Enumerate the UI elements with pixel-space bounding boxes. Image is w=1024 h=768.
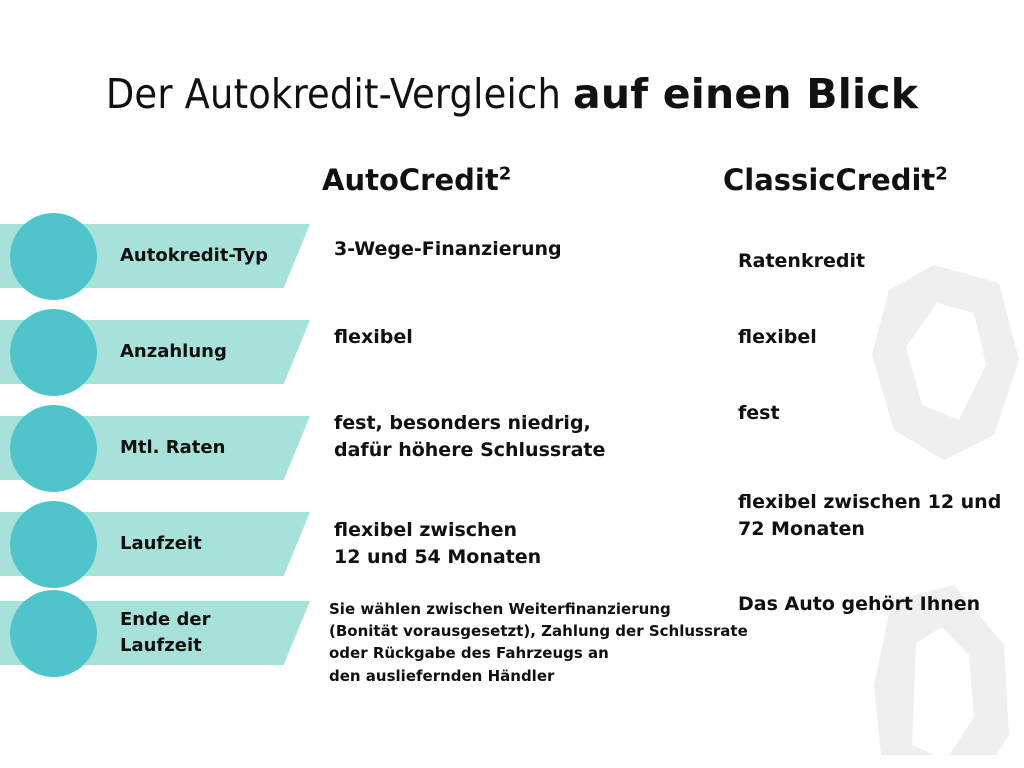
cell-classic-anzahlung: flexibel <box>738 324 817 351</box>
row-label-line1: Autokredit-Typ <box>120 243 300 269</box>
row-bullet-icon <box>10 501 97 588</box>
cell-auto-autokredit-typ: 3-Wege-Finanzierung <box>334 236 562 263</box>
cell-auto-anzahlung: flexibel <box>334 324 413 351</box>
column-header-classiccredit-superscript: 2 <box>935 163 948 184</box>
cell-auto-ende-der-laufzeit: Sie wählen zwischen Weiterfinanzierung (… <box>329 598 748 687</box>
row-bullet-icon <box>10 309 97 396</box>
cell-auto-mtl-raten: fest, besonders niedrig, dafür höhere Sc… <box>334 410 605 464</box>
cell-auto-laufzeit: flexibel zwischen 12 und 54 Monaten <box>334 517 541 571</box>
cell-classic-ende-der-laufzeit: Das Auto gehört Ihnen <box>738 591 980 618</box>
row-label-line1: Anzahlung <box>120 339 300 365</box>
column-header-autocredit-name: AutoCredit <box>322 163 499 197</box>
cell-classic-autokredit-typ: Ratenkredit <box>738 248 865 275</box>
column-header-classiccredit: ClassicCredit2 <box>723 163 948 197</box>
row-label-ende-der-laufzeit: Ende der Laufzeit <box>120 601 300 665</box>
row-label-mtl-raten: Mtl. Raten <box>120 416 300 480</box>
row-label-autokredit-typ: Autokredit-Typ <box>120 224 300 288</box>
row-label-laufzeit: Laufzeit <box>120 512 300 576</box>
page-title: Der Autokredit-Vergleich auf einen Blick <box>0 72 1024 117</box>
row-label-line1: Ende der <box>120 607 300 633</box>
column-header-classiccredit-name: ClassicCredit <box>723 163 935 197</box>
row-bullet-icon <box>10 590 97 677</box>
column-header-autocredit: AutoCredit2 <box>322 163 511 197</box>
row-label-line2: Laufzeit <box>120 633 300 659</box>
row-bullet-icon <box>10 405 97 492</box>
cell-classic-laufzeit: flexibel zwischen 12 und 72 Monaten <box>738 489 1001 543</box>
page-title-bold: auf einen Blick <box>573 70 918 118</box>
row-label-line1: Mtl. Raten <box>120 435 300 461</box>
row-bullet-icon <box>10 213 97 300</box>
page-title-regular: Der Autokredit-Vergleich <box>106 70 573 118</box>
column-header-autocredit-superscript: 2 <box>499 163 512 184</box>
row-label-line1: Laufzeit <box>120 531 300 557</box>
cell-classic-mtl-raten: fest <box>738 400 780 427</box>
row-label-anzahlung: Anzahlung <box>120 320 300 384</box>
